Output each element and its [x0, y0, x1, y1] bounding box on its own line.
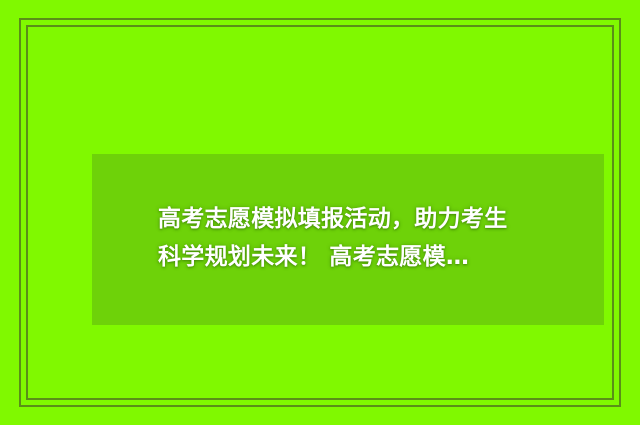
headline-text: 高考志愿模拟填报活动，助力考生 科学规划未来！ 高考志愿模…: [158, 200, 578, 276]
inner-decorative-frame: 高考志愿模拟填报活动，助力考生 科学规划未来！ 高考志愿模…: [26, 25, 614, 400]
content-panel: 高考志愿模拟填报活动，助力考生 科学规划未来！ 高考志愿模…: [92, 154, 604, 325]
banner-root: 高考志愿模拟填报活动，助力考生 科学规划未来！ 高考志愿模…: [0, 0, 640, 425]
